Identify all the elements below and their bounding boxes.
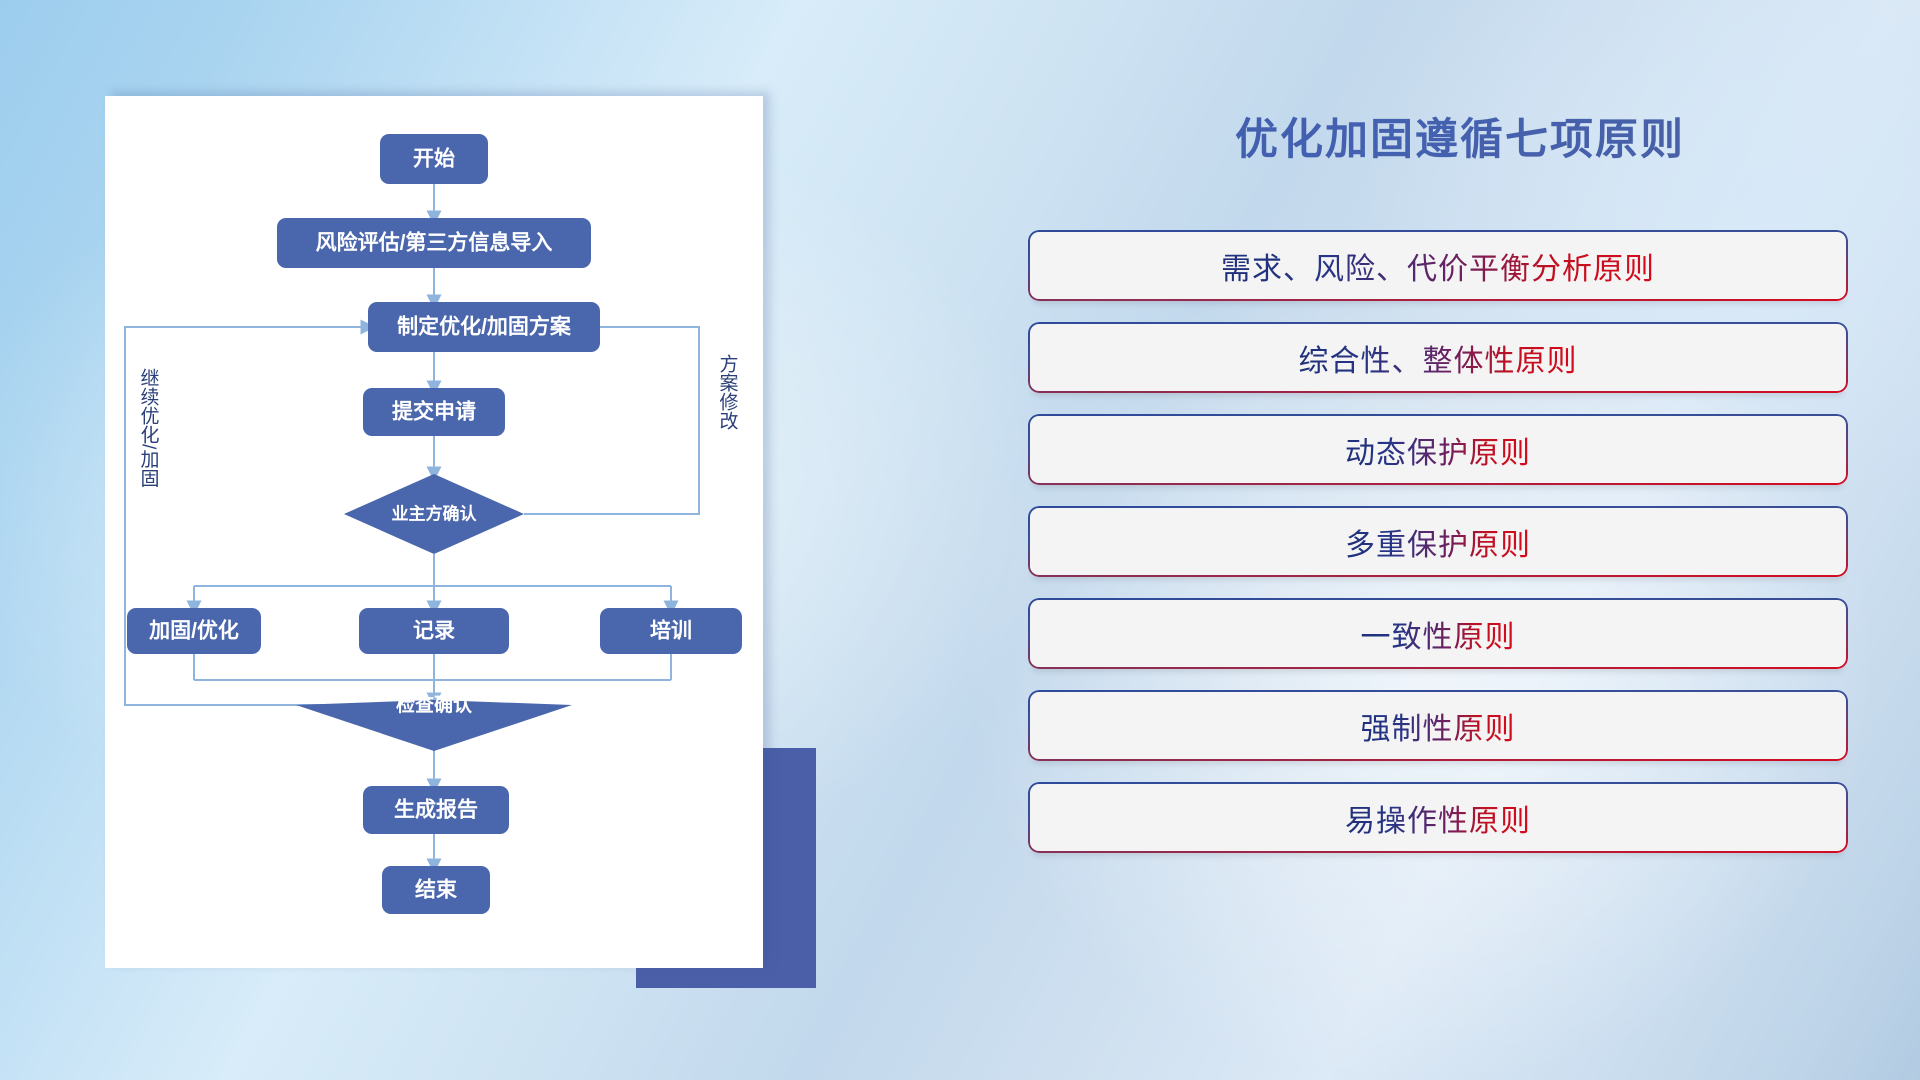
flow-node-submit-label: 提交申请 [392, 400, 476, 424]
principle-card[interactable]: 需求、风险、代价平衡分析原则 [1028, 230, 1848, 301]
flow-node-end: 结束 [382, 866, 490, 914]
principle-card[interactable]: 动态保护原则 [1028, 414, 1848, 485]
flow-node-training: 培训 [600, 608, 742, 654]
flow-node-reinforce: 加固/优化 [127, 608, 261, 654]
flow-node-record-label: 记录 [413, 620, 455, 643]
flow-node-end-label: 结束 [415, 878, 458, 902]
principle-card[interactable]: 强制性原则 [1028, 690, 1848, 761]
flowchart-diagram: 开始 风险评估/第三方信息导入 制定优化/加固方案 提交申请 业主方确认 [105, 96, 763, 968]
flow-node-submit: 提交申请 [363, 388, 505, 436]
flow-node-report: 生成报告 [363, 786, 509, 834]
flow-node-check-confirm-label: 检查确认 [396, 693, 472, 716]
principles-list: 需求、风险、代价平衡分析原则 综合性、整体性原则 动态保护原则 多重保护原则 一… [1028, 230, 1848, 874]
principle-label: 需求、风险、代价平衡分析原则 [1221, 244, 1655, 288]
edge-label-continue-optimize: 继续优化/加固 [138, 368, 160, 488]
principle-label: 易操作性原则 [1345, 796, 1531, 840]
flow-node-report-label: 生成报告 [394, 798, 478, 822]
principle-label: 多重保护原则 [1345, 520, 1531, 564]
principle-label: 一致性原则 [1361, 612, 1516, 656]
flow-node-plan-label: 制定优化/加固方案 [397, 315, 572, 339]
principle-label: 强制性原则 [1361, 704, 1516, 748]
principles-title: 优化加固遵循七项原则 [1000, 105, 1920, 167]
flowchart-panel: 开始 风险评估/第三方信息导入 制定优化/加固方案 提交申请 业主方确认 [0, 0, 960, 1080]
flow-node-risk-assessment: 风险评估/第三方信息导入 [277, 218, 591, 268]
principle-card[interactable]: 多重保护原则 [1028, 506, 1848, 577]
edge-label-plan-revision: 方案修改 [717, 354, 739, 430]
principles-panel: 优化加固遵循七项原则 需求、风险、代价平衡分析原则 综合性、整体性原则 动态保护… [1000, 0, 1920, 1080]
edge-owner-to-plan-right [500, 327, 699, 514]
flow-node-plan: 制定优化/加固方案 [368, 302, 600, 352]
principle-label: 动态保护原则 [1345, 428, 1531, 472]
flow-node-owner-confirm-label: 业主方确认 [392, 503, 478, 523]
principle-card[interactable]: 综合性、整体性原则 [1028, 322, 1848, 393]
flow-node-training-label: 培训 [650, 619, 692, 643]
flowchart-card: 开始 风险评估/第三方信息导入 制定优化/加固方案 提交申请 业主方确认 [105, 96, 763, 968]
flow-node-check-confirm: 检查确认 [296, 693, 572, 751]
flow-node-record: 记录 [359, 608, 509, 654]
flow-node-start-label: 开始 [413, 147, 455, 171]
principle-label: 综合性、整体性原则 [1299, 336, 1578, 380]
principle-card[interactable]: 一致性原则 [1028, 598, 1848, 669]
flow-node-reinforce-label: 加固/优化 [148, 619, 239, 643]
flow-node-risk-assessment-label: 风险评估/第三方信息导入 [316, 231, 553, 255]
flow-node-owner-confirm: 业主方确认 [344, 474, 524, 554]
flow-node-start: 开始 [380, 134, 488, 184]
principle-card[interactable]: 易操作性原则 [1028, 782, 1848, 853]
